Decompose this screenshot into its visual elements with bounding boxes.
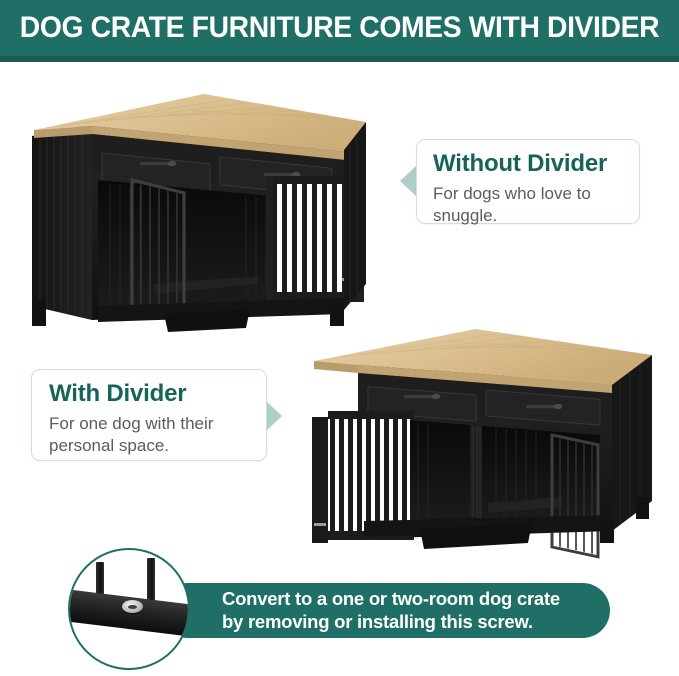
callout-title-without-divider: Without Divider (433, 151, 639, 176)
bottom-banner-text: Convert to a one or two-room dog crate b… (222, 588, 597, 634)
product-image-crate-without-divider (14, 88, 386, 338)
callout-without-divider: Without Divider For dogs who love to snu… (416, 139, 640, 224)
callout-pointer-with-divider (266, 401, 282, 431)
bottom-banner-line-2: by removing or installing this screw. (222, 611, 597, 634)
bottom-banner-line-1: Convert to a one or two-room dog crate (222, 588, 597, 611)
screw-closeup-inset (68, 548, 190, 670)
callout-body-with-divider: For one dog with their personal space. (49, 413, 266, 456)
product-image-crate-with-divider (300, 325, 674, 565)
callout-body-without-divider: For dogs who love to snuggle. (433, 183, 639, 226)
callout-title-with-divider: With Divider (49, 381, 266, 406)
callout-with-divider: With Divider For one dog with their pers… (31, 369, 267, 461)
screw-slot (128, 605, 137, 609)
page-title: DOG CRATE FURNITURE COMES WITH DIVIDER (14, 0, 666, 56)
header-divider-rule (0, 56, 679, 62)
callout-pointer-without-divider (400, 166, 416, 196)
